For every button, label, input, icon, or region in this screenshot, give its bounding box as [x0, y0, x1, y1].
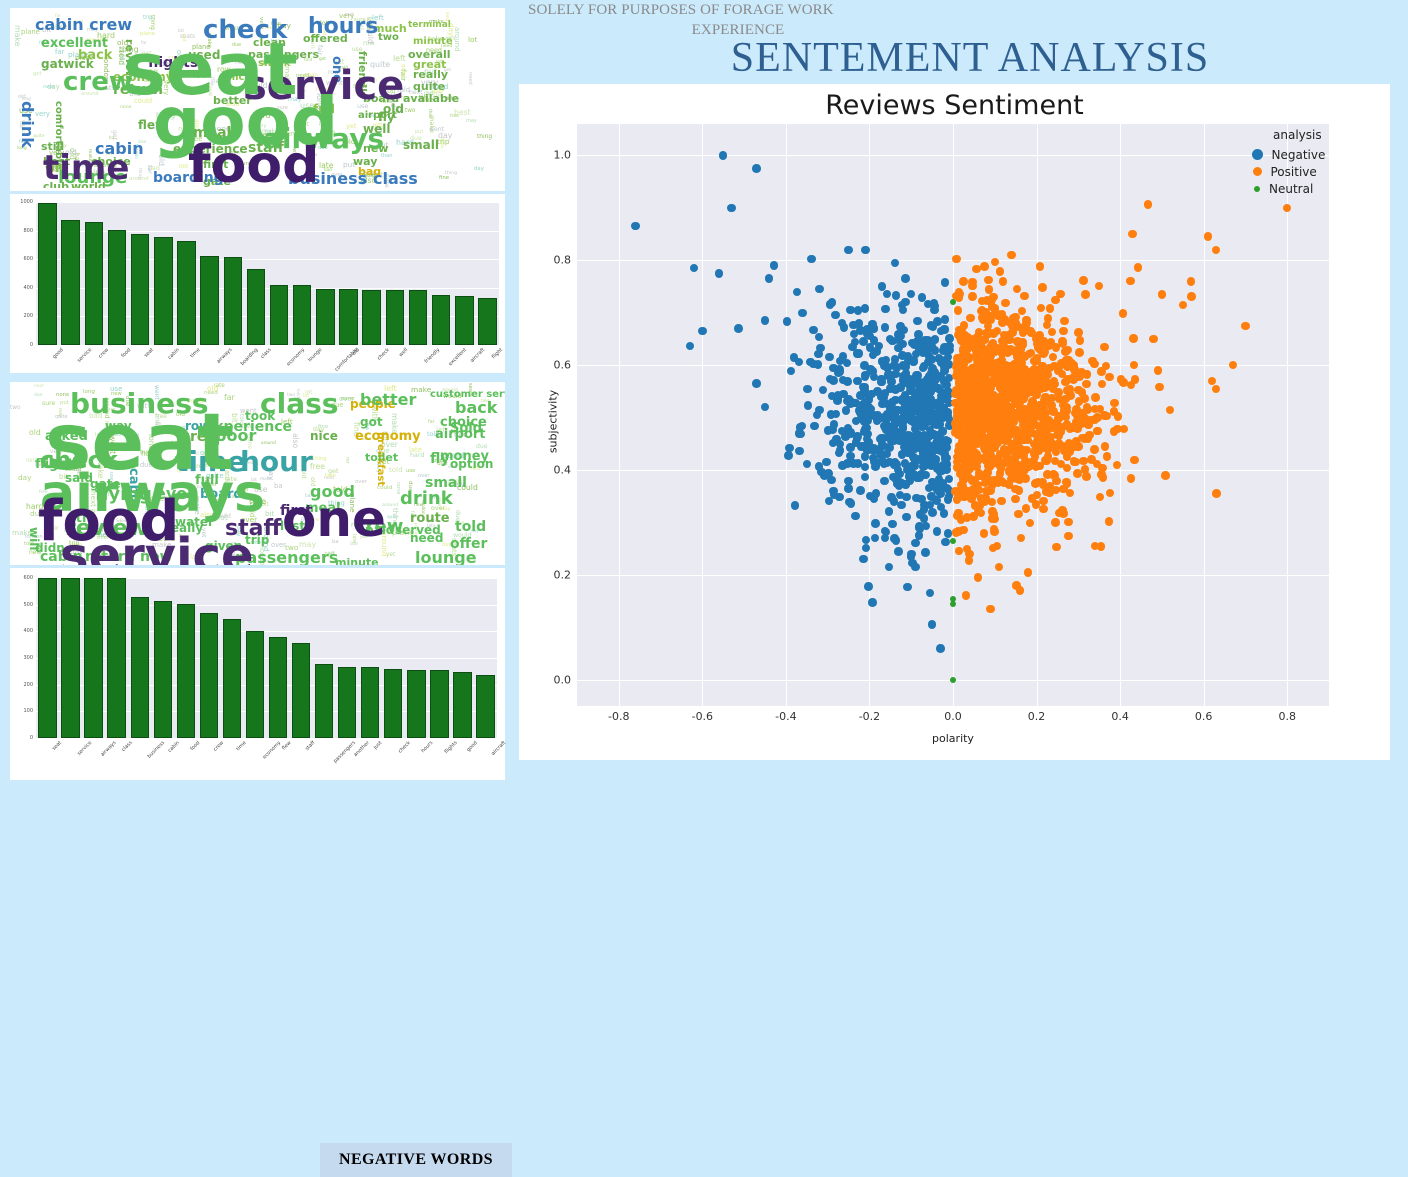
negative-word-cloud: verytwofarleftduenonelondonleftduetakewo… [10, 382, 505, 565]
chart-y-tick-label: 0 [10, 735, 33, 741]
chart-bar [361, 667, 379, 738]
chart-bar [38, 203, 57, 345]
scatter-data-point [698, 327, 707, 336]
legend-item-positive[interactable]: Positive [1245, 163, 1365, 180]
scatter-data-point [899, 306, 908, 315]
scatter-data-point [796, 430, 805, 439]
scatter-data-point [1051, 296, 1060, 305]
scatter-data-point [1024, 568, 1033, 577]
word-cloud-filler: trip [143, 16, 153, 22]
chart-bar [338, 667, 356, 738]
scatter-data-point [1025, 462, 1034, 471]
scatter-data-point [988, 363, 997, 372]
scatter-y-tick-label: 0.2 [543, 568, 571, 581]
legend-item-negative[interactable]: Negative [1245, 146, 1365, 163]
scatter-data-point [953, 495, 962, 504]
scatter-data-point [1026, 519, 1035, 528]
chart-y-tick-label: 0 [10, 342, 33, 348]
scatter-data-point [1029, 384, 1038, 393]
scatter-data-point [878, 282, 887, 291]
word-cloud-word: better [360, 392, 416, 408]
scatter-data-point [987, 383, 996, 392]
scatter-data-point [844, 484, 853, 493]
scatter-data-point [974, 436, 983, 445]
scatter-data-point [997, 477, 1006, 486]
scatter-data-point [855, 349, 864, 358]
scatter-data-point [1155, 383, 1164, 392]
chart-y-tick-label: 100 [10, 708, 33, 714]
scatter-data-point [1052, 543, 1061, 552]
scatter-data-point [1013, 475, 1022, 484]
scatter-data-point [1100, 343, 1109, 352]
scatter-data-point [1078, 388, 1087, 397]
chart-bar [409, 290, 428, 345]
scatter-data-point [827, 476, 836, 485]
scatter-x-tick-label: -0.8 [608, 710, 629, 723]
chart-bar [61, 578, 79, 738]
scatter-data-point [1070, 457, 1079, 466]
scatter-data-point [1100, 411, 1109, 420]
scatter-data-point [770, 261, 779, 270]
scatter-data-point [919, 449, 928, 458]
negative-words-badge: NEGATIVE WORDS [320, 1143, 512, 1177]
scatter-data-point [1187, 277, 1196, 286]
scatter-data-point [970, 451, 979, 460]
scatter-data-point [814, 360, 823, 369]
scatter-data-point [860, 427, 869, 436]
scatter-data-point [988, 399, 997, 408]
scatter-data-point [933, 317, 942, 326]
scatter-data-point [1208, 377, 1217, 386]
scatter-data-point [1016, 586, 1025, 595]
scatter-data-point [1041, 456, 1050, 465]
scatter-data-point [999, 277, 1008, 286]
scatter-data-point [990, 412, 999, 421]
scatter-data-point [846, 443, 855, 452]
scatter-data-point [1088, 357, 1097, 366]
scatter-data-point [847, 499, 856, 508]
chart-x-tick-label: economy [286, 347, 306, 367]
word-cloud-filler: thing [445, 172, 457, 177]
word-cloud-word: drink [19, 101, 35, 148]
scatter-data-point [815, 333, 824, 342]
scatter-data-point [828, 298, 837, 307]
word-cloud-word: hours [308, 16, 378, 38]
scatter-data-point [1081, 290, 1090, 299]
scatter-data-point [861, 246, 870, 255]
word-cloud-word: class [373, 171, 418, 187]
legend-color-swatch [1254, 186, 1260, 192]
chart-x-tick-label: service [76, 347, 93, 364]
scatter-data-point [1049, 353, 1058, 362]
scatter-data-point [1028, 494, 1037, 503]
chart-y-tick-label: 200 [10, 313, 33, 319]
word-cloud-filler: yet [386, 553, 395, 559]
chart-bar [154, 601, 172, 738]
scatter-data-point [1064, 532, 1073, 541]
scatter-data-point [868, 598, 877, 607]
scatter-data-point [851, 512, 860, 521]
scatter-data-point [1002, 383, 1011, 392]
scatter-data-point [954, 509, 963, 518]
word-cloud-filler: need [467, 72, 472, 85]
scatter-data-point [1007, 393, 1016, 402]
scatter-data-point [1014, 510, 1023, 519]
scatter-data-point [945, 334, 954, 343]
scatter-data-point [1105, 517, 1114, 526]
chart-gridline [36, 605, 497, 606]
scatter-data-point [1054, 366, 1063, 375]
word-cloud-filler: day [474, 167, 484, 172]
scatter-data-point [787, 367, 796, 376]
scatter-data-point [1158, 290, 1167, 299]
scatter-data-point [1131, 375, 1140, 384]
scatter-data-point [891, 473, 900, 482]
chart-y-tick-label: 400 [10, 285, 33, 291]
word-cloud-filler: told [389, 466, 403, 473]
scatter-data-point [966, 314, 975, 323]
word-cloud-filler: old [207, 385, 218, 393]
scatter-data-point [1063, 480, 1072, 489]
word-cloud-word: back [78, 49, 112, 62]
chart-bar [247, 269, 266, 345]
scatter-data-point [1087, 455, 1096, 464]
scatter-data-point [941, 278, 950, 287]
scatter-data-point [891, 410, 900, 419]
word-cloud-word: seat [123, 33, 298, 105]
scatter-data-point [885, 433, 894, 442]
chart-x-tick-label: lounge [307, 347, 323, 363]
chart-x-tick-label: seat [51, 740, 63, 752]
scatter-data-point [901, 480, 910, 489]
word-cloud-word: drink [400, 490, 453, 508]
positive-word-cloud-panel: withcouldoldputbagetverythanbatakenewqui… [10, 8, 505, 191]
chart-bar [131, 597, 149, 738]
scatter-data-point [888, 337, 897, 346]
word-cloud-word: class [260, 390, 338, 418]
word-cloud-word: got [360, 416, 383, 428]
scatter-data-point [980, 262, 989, 271]
scatter-data-point [1166, 406, 1175, 415]
scatter-data-point [991, 258, 1000, 267]
scatter-data-point [997, 464, 1006, 473]
scatter-data-point [1043, 470, 1052, 479]
scatter-data-point [937, 327, 946, 336]
scatter-data-point [990, 527, 999, 536]
scatter-data-point [1059, 327, 1068, 336]
word-cloud-filler: get [328, 468, 339, 474]
word-cloud-filler: make [13, 25, 21, 46]
scatter-data-point [798, 422, 807, 431]
scatter-data-point [1075, 348, 1084, 357]
legend-item-label: Positive [1271, 165, 1317, 179]
scatter-data-point [941, 538, 950, 547]
scatter-data-point [962, 591, 971, 600]
scatter-data-point [903, 583, 912, 592]
scatter-data-point [1044, 445, 1053, 454]
scatter-data-point [933, 527, 942, 536]
scatter-data-point [1101, 442, 1110, 451]
word-cloud-word: available [403, 93, 459, 104]
scatter-data-point [916, 510, 925, 519]
scatter-data-point [942, 465, 951, 474]
scatter-data-point [1204, 232, 1213, 241]
scatter-vertical-gridline [1204, 124, 1205, 706]
scatter-data-point [860, 361, 869, 370]
chart-bar [270, 285, 289, 345]
scatter-data-point [1154, 366, 1163, 375]
chart-bar [85, 222, 104, 345]
scatter-data-point [1022, 320, 1031, 329]
scatter-data-point [1099, 473, 1108, 482]
scatter-data-point [807, 255, 816, 264]
word-cloud-word: Sold [450, 422, 482, 435]
legend-item-label: Negative [1272, 148, 1326, 162]
chart-bar [154, 237, 173, 345]
scatter-data-point [816, 344, 825, 353]
scatter-data-point [989, 329, 998, 338]
scatter-data-point [883, 290, 892, 299]
chart-y-tick-label: 600 [10, 256, 33, 262]
scatter-data-point [1283, 204, 1292, 213]
chart-bar [316, 289, 335, 345]
positive-words-chart-panel: 02004006008001000goodservicecrewfoodseat… [10, 194, 505, 373]
scatter-data-point [1105, 373, 1114, 382]
scatter-data-point [1096, 493, 1105, 502]
legend-item-label: Neutral [1269, 182, 1313, 196]
word-cloud-filler: thing [477, 135, 492, 141]
scatter-data-point [907, 290, 916, 299]
scatter-data-point [902, 513, 911, 522]
scatter-y-tick-label: 1.0 [543, 149, 571, 162]
scatter-data-point [833, 396, 842, 405]
scatter-data-point [891, 355, 900, 364]
scatter-data-point [804, 401, 813, 410]
scatter-data-point [1134, 263, 1143, 272]
scatter-data-point [913, 317, 922, 326]
chart-x-tick-label: time [235, 740, 247, 752]
scatter-data-point [952, 528, 961, 537]
scatter-data-point [1051, 518, 1060, 527]
scatter-data-point [1066, 391, 1075, 400]
chart-x-tick-label: crew [97, 347, 110, 360]
scatter-data-point [1033, 410, 1042, 419]
scatter-data-point [1039, 435, 1048, 444]
scatter-data-point [927, 355, 936, 364]
scatter-x-tick-label: 0.2 [1028, 710, 1046, 723]
scatter-data-point [1053, 431, 1062, 440]
legend-item-neutral[interactable]: Neutral [1245, 180, 1365, 197]
scatter-data-point [1035, 401, 1044, 410]
legend-color-swatch [1252, 149, 1263, 160]
scatter-data-point [761, 403, 770, 412]
word-cloud-word: cabin crew [35, 17, 132, 33]
page-title: SENTEMENT ANALYSIS [640, 34, 1300, 82]
scatter-data-point [1004, 335, 1013, 344]
chart-x-tick-label: time [190, 347, 202, 359]
scatter-data-point [1015, 486, 1024, 495]
chart-x-tick-label: food [189, 740, 201, 752]
scatter-data-point [987, 346, 996, 355]
scatter-data-point [1212, 246, 1221, 255]
scatter-data-point [1066, 489, 1075, 498]
scatter-x-tick-label: 0.8 [1278, 710, 1296, 723]
scatter-data-point [910, 445, 919, 454]
scatter-data-point [950, 538, 956, 544]
scatter-data-point [1000, 361, 1009, 370]
chart-x-tick-label: flights [444, 740, 459, 755]
chart-bar [407, 670, 425, 738]
scatter-x-tick-label: 0.6 [1195, 710, 1213, 723]
scatter-data-point [869, 324, 878, 333]
scatter-data-point [752, 379, 761, 388]
chart-y-tick-label: 500 [10, 602, 33, 608]
scatter-data-point [1006, 421, 1015, 430]
scatter-data-point [790, 353, 799, 362]
scatter-data-point [950, 299, 956, 305]
chart-bar [200, 256, 219, 345]
chart-x-tick-label: seat [143, 347, 155, 359]
scatter-data-point [798, 309, 807, 318]
scatter-vertical-gridline [702, 124, 703, 706]
word-cloud-word: need [410, 532, 443, 544]
chart-bar [455, 296, 474, 345]
scatter-data-point [880, 477, 889, 486]
scatter-data-point [901, 438, 910, 447]
scatter-data-point [1063, 452, 1072, 461]
scatter-data-point [795, 447, 804, 456]
scatter-data-point [881, 323, 890, 332]
scatter-data-point [1241, 322, 1250, 331]
legend-color-swatch [1253, 167, 1262, 176]
scatter-data-point [1103, 452, 1112, 461]
word-cloud-word: time [43, 151, 129, 185]
scatter-data-point [984, 276, 993, 285]
scatter-data-point [1127, 474, 1136, 483]
chart-x-tick-label: crew [212, 740, 225, 753]
positive-words-bar-chart: 02004006008001000goodservicecrewfoodseat… [10, 194, 505, 373]
scatter-data-point [1144, 200, 1153, 209]
scatter-data-point [1026, 327, 1035, 336]
scatter-x-tick-label: 0.0 [944, 710, 962, 723]
chart-gridline [36, 202, 499, 203]
scatter-x-tick-label: -0.6 [692, 710, 713, 723]
scatter-data-point [969, 404, 978, 413]
scatter-data-point [977, 509, 986, 518]
scatter-data-point [928, 620, 937, 629]
word-cloud-word: overall [408, 49, 451, 60]
scatter-data-point [690, 264, 699, 273]
scatter-data-point [918, 293, 927, 302]
scatter-data-point [926, 388, 935, 397]
scatter-y-tick-label: 0.8 [543, 254, 571, 267]
chart-bar [108, 230, 127, 345]
scatter-data-point [962, 349, 971, 358]
scatter-data-point [980, 497, 989, 506]
word-cloud-filler: lot [468, 36, 477, 43]
word-cloud-word: back [455, 400, 497, 416]
scatter-data-point [902, 493, 911, 502]
scatter-data-point [861, 452, 870, 461]
chart-gridline [36, 316, 499, 317]
scatter-y-tick-label: 0.6 [543, 359, 571, 372]
scatter-data-point [990, 515, 999, 524]
scatter-data-point [850, 330, 859, 339]
scatter-data-point [1007, 457, 1016, 466]
word-cloud-word: fly [430, 452, 450, 466]
word-cloud-filler: ba [274, 483, 282, 490]
scatter-data-point [885, 507, 894, 516]
word-cloud-filler: get [319, 57, 326, 61]
chart-gridline [36, 685, 497, 686]
scatter-data-point [1113, 425, 1122, 434]
chart-bar [293, 285, 312, 345]
chart-gridline [36, 658, 497, 659]
scatter-data-point [825, 497, 834, 506]
scatter-x-tick-label: -0.2 [859, 710, 880, 723]
word-cloud-filler: next [34, 385, 44, 389]
scatter-data-point [785, 444, 794, 453]
scatter-data-point [1007, 251, 1016, 260]
scatter-data-point [988, 498, 997, 507]
scatter-data-point [815, 462, 824, 471]
scatter-data-point [930, 306, 939, 315]
scatter-data-point [810, 422, 819, 431]
scatter-data-point [960, 486, 969, 495]
chart-bar [315, 664, 333, 738]
word-cloud-word: route [410, 512, 450, 525]
scatter-data-point [1017, 534, 1026, 543]
chart-bar [362, 290, 381, 345]
scatter-data-point [1179, 301, 1188, 310]
word-cloud-filler: fine [439, 176, 449, 181]
word-cloud-filler: left [393, 55, 406, 63]
scatter-data-point [957, 328, 966, 337]
word-cloud-filler: day [438, 132, 452, 140]
scatter-data-point [1129, 334, 1138, 343]
scatter-data-point [1024, 369, 1033, 378]
scatter-data-point [963, 513, 972, 522]
scatter-legend: analysis NegativePositiveNeutral [1245, 128, 1365, 197]
scatter-data-point [831, 311, 840, 320]
scatter-data-point [940, 509, 949, 518]
scatter-data-point [861, 398, 870, 407]
scatter-data-point [980, 529, 989, 538]
scatter-data-point [1005, 407, 1014, 416]
scatter-data-point [1130, 361, 1139, 370]
chart-y-tick-label: 1000 [10, 199, 33, 205]
scatter-data-point [986, 476, 995, 485]
scatter-data-point [972, 420, 981, 429]
scatter-data-point [997, 497, 1006, 506]
scatter-data-point [951, 487, 960, 496]
scatter-data-point [898, 395, 907, 404]
scatter-data-point [1011, 495, 1020, 504]
chart-bar [84, 578, 102, 738]
scatter-data-point [761, 316, 770, 325]
scatter-data-point [967, 495, 976, 504]
scatter-data-point [1008, 467, 1017, 476]
scatter-data-point [950, 677, 956, 683]
chart-bar [339, 289, 358, 345]
scatter-data-point [1046, 304, 1055, 313]
chart-bar [223, 619, 241, 738]
scatter-data-point [1039, 505, 1048, 514]
word-cloud-filler: use [406, 469, 415, 474]
scatter-data-point [1130, 456, 1139, 465]
scatter-data-point [752, 164, 761, 173]
scatter-x-tick-label: 0.4 [1111, 710, 1129, 723]
